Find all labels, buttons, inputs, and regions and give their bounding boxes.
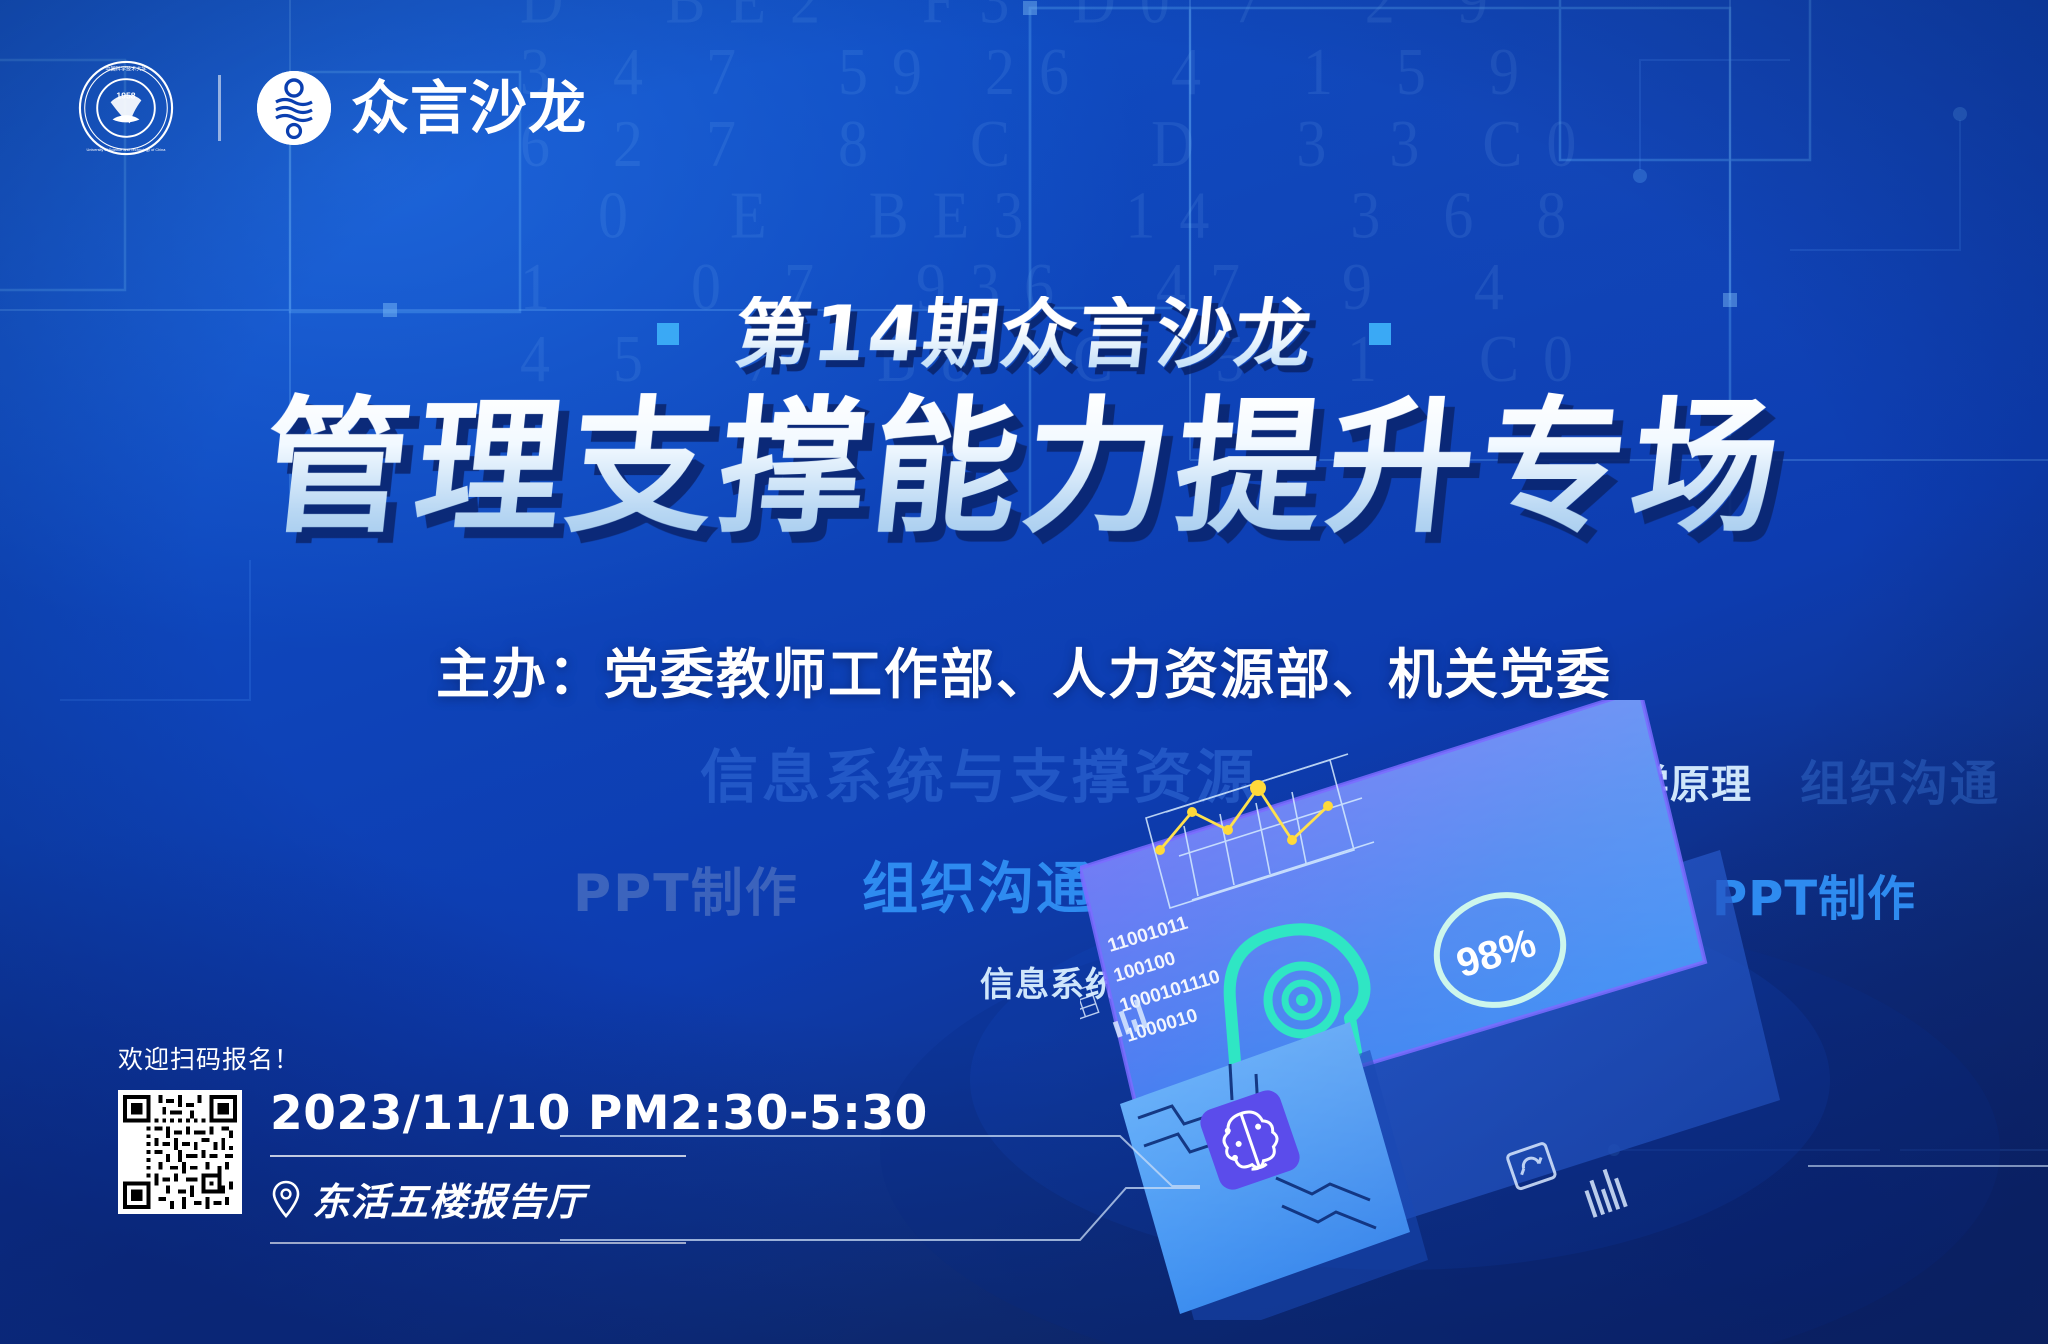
footer-rule-bottom [270, 1242, 686, 1244]
kicker-title: 第14期众言沙龙 [731, 296, 1317, 372]
location-pin-icon [270, 1179, 302, 1219]
kicker-block: 第14期众言沙龙 [0, 296, 2048, 372]
hex-code-background: D BE2 F3 D0 7 2 9 3 4 7 59 26 4 1 5 9 6 … [520, 0, 1820, 334]
organizer-line: 主办：党委教师工作部、人力资源部、机关党委 [0, 630, 2048, 709]
qr-code-image [123, 1095, 237, 1209]
scan-note: 欢迎扫码报名！ [118, 1040, 928, 1076]
equalizer-icon [1580, 1166, 1628, 1217]
svg-text:University of Science and Tech: University of Science and Technology of … [87, 148, 167, 152]
emblem-year: 1958 [116, 90, 135, 100]
footer-info: 欢迎扫码报名！ [118, 1040, 928, 1244]
salon-logo-text: 众言沙龙 [351, 79, 587, 137]
salon-logo: 众言沙龙 [257, 71, 587, 145]
decor-square-right [1369, 323, 1391, 345]
keyword-tag: PPT制作 [573, 868, 799, 920]
keyword-tag: 组织沟通 [862, 862, 1094, 918]
event-venue: 东活五楼报告厅 [312, 1171, 585, 1226]
header-divider [218, 75, 221, 141]
headline-block: 管理支撑能力提升专场 [0, 392, 2048, 545]
ustc-emblem-icon: 1958 中国科学技术大学 University of Science and … [78, 60, 174, 156]
footer-rule-top [270, 1155, 686, 1157]
decor-square-left [657, 323, 679, 345]
water-ripple-circle-icon [257, 71, 331, 145]
svg-text:中国科学技术大学: 中国科学技术大学 [105, 65, 146, 73]
poster-header: 1958 中国科学技术大学 University of Science and … [78, 60, 587, 156]
event-datetime: 2023/11/10 PM2:30-5:30 [270, 1090, 928, 1137]
grid-icon [1080, 986, 1099, 1026]
tech-illustration: 11001011 100100 1000101110 1000010 98% [1080, 700, 1860, 1320]
poster-canvas: D BE2 F3 D0 7 2 9 3 4 7 59 26 4 1 5 9 6 … [0, 0, 2048, 1344]
registration-qr-code[interactable] [118, 1090, 242, 1214]
ustc-emblem: 1958 中国科学技术大学 University of Science and … [78, 60, 174, 156]
page-title: 管理支撑能力提升专场 [256, 392, 1792, 545]
